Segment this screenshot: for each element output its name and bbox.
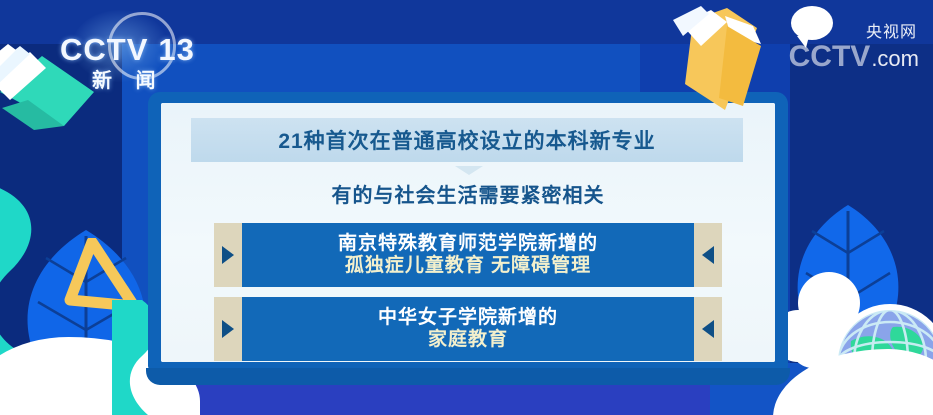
triangle-right-icon [222, 320, 234, 338]
broadcast-screenshot: CCTV13 新 闻 CCTV .com 央视网 [0, 0, 933, 415]
list-item-school: 中华女子学院新增的 [378, 307, 558, 329]
triangle-right-icon [222, 246, 234, 264]
list-item-body: 中华女子学院新增的 家庭教育 [242, 297, 694, 361]
laptop-base [146, 368, 790, 385]
marker-right [694, 223, 722, 287]
list-item-school: 南京特殊教育师范学院新增的 [338, 233, 598, 255]
chevron-down-icon [455, 166, 483, 175]
triangle-left-icon [702, 246, 714, 264]
subtitle-text: 有的与社会生活需要紧密相关 [161, 179, 775, 208]
headline-band: 21种首次在普通高校设立的本科新专业 [191, 118, 743, 162]
cctv-logo-sub: 新 闻 [92, 64, 165, 93]
cctv-com-watermark: CCTV .com 央视网 [789, 40, 919, 74]
laptop-graphic: 21种首次在普通高校设立的本科新专业 有的与社会生活需要紧密相关 南京特殊教育师… [148, 92, 788, 389]
list-item-body: 南京特殊教育师范学院新增的 孤独症儿童教育 无障碍管理 [242, 223, 694, 287]
list-item[interactable]: 南京特殊教育师范学院新增的 孤独症儿童教育 无障碍管理 [214, 223, 722, 287]
page-title: 21种首次在普通高校设立的本科新专业 [278, 125, 655, 155]
marker-left [214, 297, 242, 361]
cctv-number: 13 [158, 32, 194, 67]
screen-content: 21种首次在普通高校设立的本科新专业 有的与社会生活需要紧密相关 南京特殊教育师… [161, 103, 775, 362]
laptop-frame: 21种首次在普通高校设立的本科新专业 有的与社会生活需要紧密相关 南京特殊教育师… [148, 92, 788, 370]
marker-right [694, 297, 722, 361]
marker-left [214, 223, 242, 287]
speech-bubble-icon [791, 6, 833, 40]
watermark-chinese: 央视网 [866, 18, 917, 42]
list-item-major: 孤独症儿童教育 无障碍管理 [345, 255, 591, 277]
triangle-left-icon [702, 320, 714, 338]
list-item[interactable]: 中华女子学院新增的 家庭教育 [214, 297, 722, 361]
open-book-icon [0, 30, 102, 135]
open-book-icon-right [657, 2, 785, 115]
watermark-com: .com [871, 46, 919, 72]
list-item-major: 家庭教育 [428, 329, 508, 351]
laptop-screen: 21种首次在普通高校设立的本科新专业 有的与社会生活需要紧密相关 南京特殊教育师… [161, 103, 775, 362]
